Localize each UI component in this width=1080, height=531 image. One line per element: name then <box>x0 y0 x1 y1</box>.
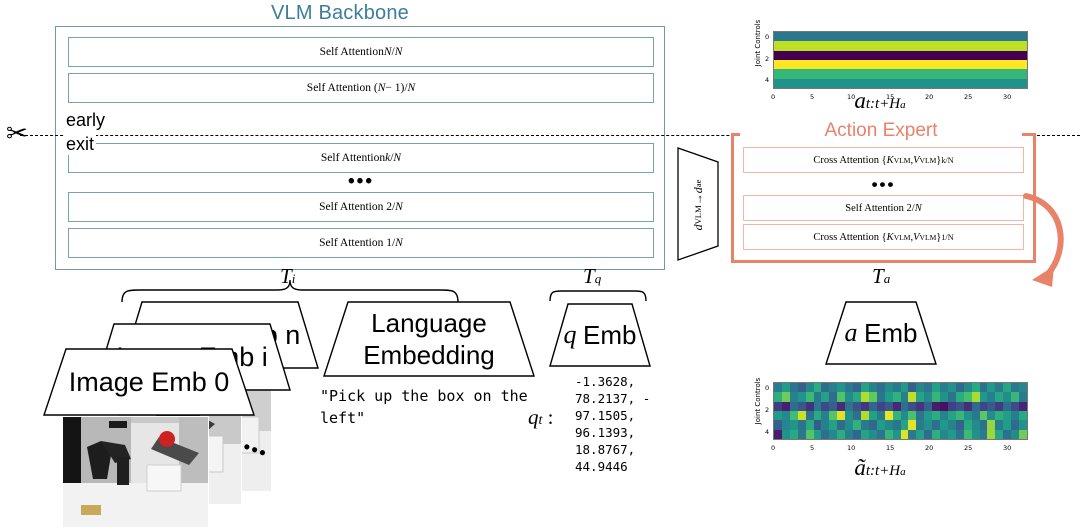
noisy-heatmap-cell <box>956 411 964 420</box>
vlm-layer-1: Self Attention 1/N <box>68 228 654 258</box>
noisy-heatmap-cell <box>806 392 814 401</box>
noisy-heatmap-cell <box>980 420 988 429</box>
noisy-heatmap-cell <box>853 411 861 420</box>
noisy-heatmap-cell <box>1019 430 1027 439</box>
noisy-heatmap-cell <box>980 402 988 411</box>
noisy-heatmap-cell <box>940 383 948 392</box>
noisy-heatmap-cell <box>908 411 916 420</box>
noisy-heatmap-cell <box>972 420 980 429</box>
noisy-heatmap-cell <box>829 411 837 420</box>
noisy-heatmap-cell <box>916 392 924 401</box>
noisy-heatmap-cell <box>774 383 782 392</box>
ae-layer-cross-k: Cross Attention {KVLM, VVLM}k/N <box>743 147 1024 173</box>
noisy-heatmap-cell <box>995 430 1003 439</box>
noisy-heatmap-cell <box>987 383 995 392</box>
noisy-heatmap-cell <box>948 392 956 401</box>
clean-action-caption: at:t+Ha <box>780 88 980 114</box>
clean-heatmap-row <box>774 51 1027 60</box>
action-expert-title: Action Expert <box>740 120 1022 142</box>
noisy-heatmap-cell <box>837 411 845 420</box>
noisy-heatmap-cell <box>1003 430 1011 439</box>
noisy-heatmap-cell <box>1019 392 1027 401</box>
noisy-heatmap-cell <box>948 383 956 392</box>
noisy-heatmap-cell <box>924 420 932 429</box>
noisy-heatmap-cell <box>995 411 1003 420</box>
noisy-heatmap-cell <box>916 411 924 420</box>
noisy-heatmap-cell <box>845 392 853 401</box>
noisy-heatmap-cell <box>1019 420 1027 429</box>
noisy-heatmap-cell <box>948 420 956 429</box>
noisy-heatmap-cell <box>995 392 1003 401</box>
noisy-heatmap-cell <box>995 420 1003 429</box>
noisy-heatmap-cell <box>980 411 988 420</box>
noisy-heatmap-xtick-25: 25 <box>964 444 972 452</box>
noisy-heatmap-cell <box>964 383 972 392</box>
noisy-heatmap-cell <box>1011 430 1019 439</box>
clean-heatmap-xtick-0: 0 <box>771 93 775 101</box>
vlm-layer-2: Self Attention 2/N <box>68 192 654 222</box>
noisy-heatmap-cell <box>853 430 861 439</box>
noisy-heatmap-cell <box>790 392 798 401</box>
clean-heatmap-ytick-4: 4 <box>765 76 769 84</box>
noisy-heatmap-cell <box>774 392 782 401</box>
noisy-heatmap-cell <box>972 411 980 420</box>
noisy-heatmap-cell <box>798 411 806 420</box>
noisy-heatmap-cell <box>908 430 916 439</box>
noisy-heatmap-cell <box>861 383 869 392</box>
noisy-heatmap-cell <box>932 392 940 401</box>
noisy-heatmap-cell <box>877 420 885 429</box>
noisy-heatmap-cell <box>829 402 837 411</box>
noisy-heatmap-cell <box>806 430 814 439</box>
noisy-heatmap-xtick-20: 20 <box>925 444 933 452</box>
noisy-heatmap-cell <box>814 402 822 411</box>
vlm-layers-ellipsis: ••• <box>56 177 666 187</box>
noisy-heatmap-cell <box>901 402 909 411</box>
clean-heatmap-ylabel: Joint Controls <box>754 14 762 72</box>
noisy-heatmap-cell <box>885 430 893 439</box>
noisy-heatmap-cell <box>821 392 829 401</box>
noisy-heatmap-cell <box>821 402 829 411</box>
noisy-heatmap-cell <box>1019 383 1027 392</box>
noisy-heatmap-cell <box>948 411 956 420</box>
noisy-heatmap-cell <box>782 411 790 420</box>
noisy-heatmap-ytick-4: 4 <box>765 428 769 436</box>
noisy-heatmap-cell <box>877 402 885 411</box>
noisy-heatmap-xtick-5: 5 <box>810 444 814 452</box>
noisy-heatmap-cell <box>1019 411 1027 420</box>
noisy-heatmap-cell <box>964 411 972 420</box>
noisy-heatmap-cell <box>869 392 877 401</box>
noisy-heatmap-cell <box>885 402 893 411</box>
noisy-heatmap-cell <box>893 411 901 420</box>
noisy-heatmap-cell <box>861 392 869 401</box>
noisy-heatmap-cell <box>893 420 901 429</box>
image-emb-0-label: Image Emb 0 <box>42 347 256 417</box>
noisy-heatmap-cell <box>924 411 932 420</box>
q-vector-label: qt : <box>528 405 553 430</box>
noisy-heatmap-cell <box>798 383 806 392</box>
noisy-heatmap-cell <box>869 420 877 429</box>
noisy-heatmap-cell <box>987 411 995 420</box>
vlm-layer-n: Self Attention N/N <box>68 37 654 67</box>
noisy-heatmap-cell <box>861 420 869 429</box>
noisy-action-caption: ãt:t+Ha <box>780 455 980 481</box>
noisy-heatmap-cell <box>774 430 782 439</box>
noisy-heatmap-cell <box>798 420 806 429</box>
noisy-heatmap-cell <box>829 383 837 392</box>
clean-heatmap-xtick-30: 30 <box>1003 93 1011 101</box>
noisy-heatmap-cell <box>908 392 916 401</box>
a-emb-label: a Emb <box>824 300 938 366</box>
noisy-heatmap-cell <box>806 402 814 411</box>
query-token-label: Tq <box>583 264 601 289</box>
noisy-heatmap-cell <box>806 411 814 420</box>
noisy-heatmap-cell <box>821 420 829 429</box>
noisy-heatmap-cell <box>885 383 893 392</box>
noisy-heatmap-cell <box>901 430 909 439</box>
noisy-heatmap-cell <box>814 430 822 439</box>
noisy-heatmap-cell <box>845 420 853 429</box>
noisy-heatmap-cell <box>901 411 909 420</box>
noisy-heatmap-cell <box>980 383 988 392</box>
early-exit-label-line2: exit <box>64 134 96 155</box>
q-value-0: -1.3628, <box>575 373 675 390</box>
ae-layers-ellipsis: ••• <box>734 175 1033 195</box>
language-emb-line1: Language <box>371 307 487 339</box>
q-value-1: 78.2137, - <box>575 390 675 407</box>
noisy-heatmap-cell <box>893 402 901 411</box>
clean-heatmap-row <box>774 79 1027 88</box>
noisy-heatmap-cell <box>924 392 932 401</box>
noisy-heatmap-cell <box>916 383 924 392</box>
noisy-heatmap-cell <box>972 392 980 401</box>
noisy-heatmap-cell <box>1011 411 1019 420</box>
noisy-heatmap-cell <box>861 411 869 420</box>
noisy-heatmap-cell <box>774 420 782 429</box>
noisy-heatmap-ylabel: Joint Controls <box>754 372 762 430</box>
noisy-heatmap-cell <box>845 402 853 411</box>
vlm-backbone-title: VLM Backbone <box>0 2 680 25</box>
noisy-heatmap-cell <box>956 383 964 392</box>
noisy-heatmap-cell <box>901 392 909 401</box>
noisy-heatmap-cell <box>987 420 995 429</box>
q-emb-label: q Emb <box>548 302 652 368</box>
noisy-heatmap-cell <box>916 420 924 429</box>
noisy-heatmap-cell <box>932 430 940 439</box>
noisy-heatmap-cell <box>829 392 837 401</box>
noisy-heatmap-cell <box>798 430 806 439</box>
noisy-heatmap-cell <box>861 402 869 411</box>
noisy-heatmap-cell <box>877 411 885 420</box>
noisy-heatmap-cell <box>1011 383 1019 392</box>
noisy-heatmap-cell <box>774 402 782 411</box>
noisy-heatmap-cell <box>901 383 909 392</box>
noisy-heatmap-cell <box>845 411 853 420</box>
noisy-heatmap-cell <box>987 430 995 439</box>
q-vector-values: -1.3628, 78.2137, - 97.1505, 96.1393, 18… <box>575 373 675 475</box>
noisy-heatmap-cell <box>790 402 798 411</box>
q-value-3: 96.1393, <box>575 424 675 441</box>
noisy-heatmap-cell <box>821 430 829 439</box>
language-emb-line2: Embedding <box>363 339 495 371</box>
noisy-heatmap-cell <box>956 402 964 411</box>
noisy-heatmap-xtick-30: 30 <box>1003 444 1011 452</box>
q-value-4: 18.8767, <box>575 441 675 458</box>
noisy-heatmap-cell <box>782 420 790 429</box>
noisy-heatmap-cell <box>877 383 885 392</box>
noisy-heatmap-ytick-2: 2 <box>765 406 769 414</box>
noisy-heatmap-cell <box>972 383 980 392</box>
noisy-heatmap-cell <box>908 420 916 429</box>
vlm-layer-k: Self Attention k/N <box>68 143 654 173</box>
noisy-heatmap-cell <box>774 411 782 420</box>
noisy-heatmap-cell <box>1011 402 1019 411</box>
noisy-heatmap-cell <box>845 430 853 439</box>
noisy-heatmap-cell <box>940 420 948 429</box>
language-emb-label: Language Embedding <box>320 302 538 376</box>
noisy-heatmap-cell <box>1003 392 1011 401</box>
vlm-backbone-box: Self Attention N/N Self Attention (N − 1… <box>55 26 665 270</box>
noisy-heatmap-cell <box>869 430 877 439</box>
noisy-heatmap-cell <box>782 392 790 401</box>
noisy-heatmap-cell <box>948 430 956 439</box>
noisy-heatmap-cell <box>893 392 901 401</box>
noisy-heatmap-cell <box>924 402 932 411</box>
ae-layer-cross-1: Cross Attention {KVLM, VVLM}1/N <box>743 224 1024 250</box>
noisy-heatmap-cell <box>798 402 806 411</box>
scissors-icon: ✂ <box>6 120 28 146</box>
noisy-heatmap-cell <box>837 402 845 411</box>
noisy-heatmap-cell <box>901 420 909 429</box>
noisy-heatmap-cell <box>782 383 790 392</box>
noisy-heatmap-cell <box>956 430 964 439</box>
noisy-heatmap-cell <box>798 392 806 401</box>
noisy-heatmap-cell <box>869 402 877 411</box>
noisy-heatmap-cell <box>972 402 980 411</box>
vlm-layer-n-minus-1: Self Attention (N − 1)/N <box>68 73 654 103</box>
clean-heatmap-row <box>774 32 1027 41</box>
noisy-heatmap-cell <box>908 383 916 392</box>
noisy-heatmap-cell <box>853 420 861 429</box>
noisy-heatmap-cell <box>956 420 964 429</box>
noisy-heatmap-cell <box>956 392 964 401</box>
noisy-heatmap-cell <box>837 420 845 429</box>
noisy-heatmap-cell <box>790 430 798 439</box>
ae-layer-self-2: Self Attention 2/N <box>743 195 1024 221</box>
noisy-heatmap-cell <box>1003 383 1011 392</box>
noisy-heatmap-cell <box>1003 411 1011 420</box>
noisy-heatmap-cell <box>885 392 893 401</box>
noisy-heatmap-cell <box>940 430 948 439</box>
action-token-label: Ta <box>872 264 890 289</box>
noisy-heatmap-cell <box>829 420 837 429</box>
noisy-heatmap-cell <box>885 411 893 420</box>
noisy-heatmap-cell <box>940 411 948 420</box>
noisy-heatmap-cell <box>1003 402 1011 411</box>
image-token-label: Ti <box>280 264 295 289</box>
clean-heatmap-ytick-2: 2 <box>765 55 769 63</box>
noisy-heatmap-cell <box>821 411 829 420</box>
clean-heatmap-row <box>774 69 1027 78</box>
noisy-heatmap-cell <box>837 430 845 439</box>
noisy-heatmap-cell <box>853 392 861 401</box>
noisy-heatmap-cell <box>1019 402 1027 411</box>
noisy-heatmap-cell <box>932 420 940 429</box>
noisy-heatmap-cell <box>964 430 972 439</box>
clean-heatmap-ytick-0: 0 <box>765 33 769 41</box>
noisy-heatmap-cell <box>814 383 822 392</box>
noisy-heatmap-cell <box>877 430 885 439</box>
noisy-heatmap-cell <box>782 430 790 439</box>
noisy-heatmap-cell <box>814 392 822 401</box>
noisy-heatmap-cell <box>877 392 885 401</box>
noisy-heatmap-cell <box>964 402 972 411</box>
noisy-heatmap-cell <box>806 420 814 429</box>
noisy-heatmap-cell <box>972 430 980 439</box>
noisy-heatmap-cell <box>1011 420 1019 429</box>
q-value-2: 97.1505, <box>575 407 675 424</box>
noisy-heatmap-cell <box>853 383 861 392</box>
noisy-heatmap-cell <box>893 430 901 439</box>
noisy-heatmap-cell <box>1011 392 1019 401</box>
noisy-heatmap-cell <box>853 402 861 411</box>
noisy-heatmap-cell <box>948 402 956 411</box>
clean-heatmap-row <box>774 41 1027 50</box>
language-prompt-text: "Pick up the box on the left" <box>320 385 535 429</box>
noisy-heatmap-cell <box>885 420 893 429</box>
noisy-heatmap-cell <box>940 392 948 401</box>
noisy-heatmap-cell <box>845 383 853 392</box>
noisy-heatmap-xtick-10: 10 <box>847 444 855 452</box>
noisy-heatmap-cell <box>893 383 901 392</box>
clean-heatmap-row <box>774 60 1027 69</box>
noisy-heatmap-cell <box>814 420 822 429</box>
noisy-heatmap-cell <box>932 402 940 411</box>
noisy-heatmap-cell <box>940 402 948 411</box>
noisy-heatmap-cell <box>814 411 822 420</box>
noisy-heatmap-cell <box>980 392 988 401</box>
action-expert-box: Cross Attention {KVLM, VVLM}k/N ••• Self… <box>731 133 1036 263</box>
noisy-heatmap-cell <box>980 430 988 439</box>
noisy-heatmap-cell <box>829 430 837 439</box>
recurrent-denoise-arrow <box>1006 188 1076 298</box>
noisy-heatmap-cell <box>782 402 790 411</box>
noisy-heatmap-cell <box>790 411 798 420</box>
q-value-5: 44.9446 <box>575 458 675 475</box>
noisy-heatmap-xtick-0: 0 <box>771 444 775 452</box>
noisy-heatmap-cell <box>964 392 972 401</box>
early-exit-label-line1: early <box>64 110 107 131</box>
noisy-heatmap-cell <box>924 383 932 392</box>
noisy-heatmap-cell <box>869 411 877 420</box>
noisy-heatmap-cell <box>1003 420 1011 429</box>
noisy-heatmap-cell <box>964 420 972 429</box>
noisy-heatmap-cell <box>837 383 845 392</box>
noisy-heatmap-cell <box>916 430 924 439</box>
noisy-heatmap-cell <box>995 402 1003 411</box>
noisy-heatmap-cell <box>837 392 845 401</box>
noisy-heatmap-ytick-0: 0 <box>765 384 769 392</box>
noisy-heatmap-cell <box>790 383 798 392</box>
noisy-heatmap-xtick-15: 15 <box>886 444 894 452</box>
noisy-heatmap-cell <box>790 420 798 429</box>
noisy-heatmap-cell <box>995 383 1003 392</box>
noisy-heatmap-cell <box>924 430 932 439</box>
noisy-heatmap-cell <box>869 383 877 392</box>
noisy-heatmap-cell <box>987 402 995 411</box>
noisy-heatmap-cell <box>932 383 940 392</box>
robot-photo-1 <box>62 416 209 528</box>
noisy-heatmap-cell <box>908 402 916 411</box>
noisy-heatmap-cell <box>932 411 940 420</box>
noisy-heatmap-cell <box>916 402 924 411</box>
noisy-heatmap-cell <box>861 430 869 439</box>
noisy-heatmap-cell <box>987 392 995 401</box>
noisy-heatmap-cell <box>806 383 814 392</box>
noisy-heatmap-cell <box>821 383 829 392</box>
